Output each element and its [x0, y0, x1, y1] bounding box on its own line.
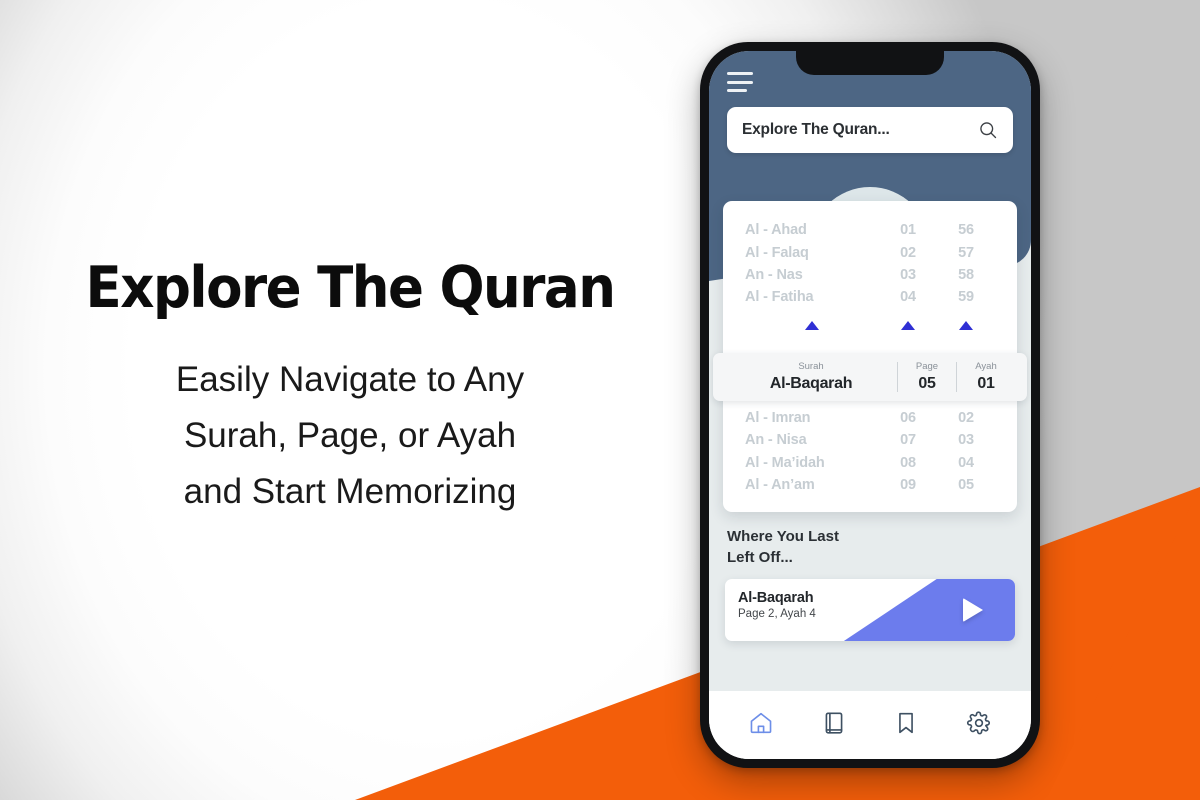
picker-page: 08 [879, 455, 937, 471]
picker-surah: Al - Ma’idah [745, 455, 879, 471]
list-item[interactable]: Al - An’am 09 05 [745, 474, 995, 496]
selected-surah-value: Al-Baqarah [770, 374, 852, 393]
picker-page: 04 [879, 289, 937, 305]
search-input[interactable]: Explore The Quran... [727, 107, 1013, 153]
last-left-off-heading-line-2: Left Off... [727, 547, 839, 568]
list-item[interactable]: Al - Falaq 02 57 [745, 241, 995, 263]
phone-mockup: Explore The Quran... Al - Ahad 01 56 [700, 42, 1040, 768]
hero-subtitle-line-2: Surah, Page, or Ayah [0, 408, 700, 464]
selected-page-value: 05 [918, 374, 935, 393]
promo-banner: Explore The Quran Easily Navigate to Any… [0, 0, 1200, 800]
nav-item-settings[interactable] [957, 705, 1001, 745]
page-title: Explore The Quran [25, 258, 676, 318]
picker-ayah: 56 [937, 222, 995, 238]
picker-ayah: 58 [937, 267, 995, 283]
chevron-up-icon-page[interactable] [901, 321, 915, 330]
picker-surah: Al - Fatiha [745, 289, 879, 305]
hero-subtitle: Easily Navigate to Any Surah, Page, or A… [0, 352, 700, 520]
phone-screen: Explore The Quran... Al - Ahad 01 56 [709, 51, 1031, 759]
selected-ayah-label: Ayah [975, 361, 996, 372]
resume-card-subtitle: Page 2, Ayah 4 [738, 608, 816, 620]
nav-item-home[interactable] [739, 705, 783, 745]
search-input-value: Explore The Quran... [742, 121, 978, 139]
chevron-up-icon-ayah[interactable] [959, 321, 973, 330]
selected-surah-label: Surah [798, 361, 823, 372]
hamburger-menu-icon[interactable] [727, 72, 753, 92]
list-item[interactable]: An - Nisa 07 03 [745, 429, 995, 451]
resume-card[interactable]: Al-Baqarah Page 2, Ayah 4 [725, 579, 1015, 641]
search-icon[interactable] [978, 120, 998, 140]
hero-subtitle-line-3: and Start Memorizing [0, 464, 700, 520]
nav-item-bookmark[interactable] [884, 705, 928, 745]
picker-ayah: 03 [937, 432, 995, 448]
book-icon [821, 710, 847, 741]
hero-copy: Explore The Quran Easily Navigate to Any… [0, 258, 700, 520]
list-item[interactable]: An - Nas 03 58 [745, 264, 995, 286]
picker-page: 06 [879, 410, 937, 426]
selected-page[interactable]: Page 05 [898, 361, 956, 393]
nav-item-book[interactable] [812, 705, 856, 745]
phone-notch [796, 51, 944, 75]
picker-page: 02 [879, 245, 937, 261]
picker-selected-row[interactable]: Surah Al-Baqarah Page 05 Ayah 01 [713, 353, 1027, 401]
picker-page: 03 [879, 267, 937, 283]
picker-ayah: 02 [937, 410, 995, 426]
picker-up-arrows [723, 317, 1017, 335]
selected-surah[interactable]: Surah Al-Baqarah [725, 361, 897, 393]
resume-card-text: Al-Baqarah Page 2, Ayah 4 [738, 590, 816, 620]
play-icon[interactable] [963, 598, 983, 622]
last-left-off-heading: Where You Last Left Off... [727, 526, 839, 569]
selected-page-label: Page [916, 361, 938, 372]
bookmark-icon [893, 710, 919, 741]
list-item[interactable]: Al - Imran 06 02 [745, 407, 995, 429]
picker-ayah: 04 [937, 455, 995, 471]
selected-ayah[interactable]: Ayah 01 [957, 361, 1015, 393]
picker-surah: An - Nas [745, 267, 879, 283]
picker-rows-above: Al - Ahad 01 56 Al - Falaq 02 57 An - Na… [723, 219, 1017, 309]
resume-card-title: Al-Baqarah [738, 590, 816, 606]
list-item[interactable]: Al - Fatiha 04 59 [745, 286, 995, 308]
hero-subtitle-line-1: Easily Navigate to Any [0, 352, 700, 408]
home-icon [748, 710, 774, 741]
picker-surah: Al - Falaq [745, 245, 879, 261]
picker-surah: An - Nisa [745, 432, 879, 448]
chevron-up-icon-surah[interactable] [805, 321, 819, 330]
bottom-navigation-bar [709, 691, 1031, 759]
picker-surah: Al - An’am [745, 477, 879, 493]
picker-page: 07 [879, 432, 937, 448]
selected-ayah-value: 01 [977, 374, 994, 393]
list-item[interactable]: Al - Ahad 01 56 [745, 219, 995, 241]
picker-page: 09 [879, 477, 937, 493]
list-item[interactable]: Al - Ma’idah 08 04 [745, 451, 995, 473]
gear-icon [966, 710, 992, 741]
picker-surah: Al - Imran [745, 410, 879, 426]
picker-rows-below: Al - Imran 06 02 An - Nisa 07 03 Al - Ma… [723, 407, 1017, 497]
picker-surah: Al - Ahad [745, 222, 879, 238]
last-left-off-heading-line-1: Where You Last [727, 526, 839, 547]
picker-ayah: 59 [937, 289, 995, 305]
picker-ayah: 57 [937, 245, 995, 261]
picker-page: 01 [879, 222, 937, 238]
picker-ayah: 05 [937, 477, 995, 493]
